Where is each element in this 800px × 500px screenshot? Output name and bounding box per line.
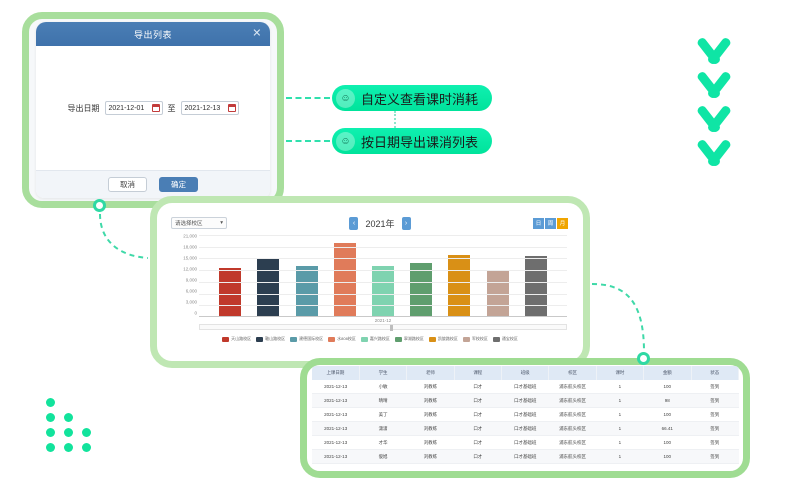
- table-cell: 浦东航头校区: [549, 436, 596, 450]
- gridline: [199, 270, 567, 271]
- table-cell: 刘教练: [407, 408, 454, 422]
- legend-label: 嘉兴路校区: [370, 336, 390, 342]
- lesson-table-container: 上课日期学生老师课程班级校区课时金额状态 2021-12-13小敏刘教练口才口才…: [312, 366, 739, 468]
- legend-label: 军校校区: [472, 336, 488, 342]
- table-cell: 刘教练: [407, 394, 454, 408]
- y-tick: 3,000: [186, 300, 197, 305]
- table-header-cell: 金额: [644, 366, 691, 380]
- table-cell: 口才基础班: [502, 408, 549, 422]
- legend-swatch: [361, 337, 368, 342]
- legend-label: 鞍山路校区: [265, 336, 285, 342]
- legend-item[interactable]: 军校校区: [463, 336, 488, 342]
- date-from-input[interactable]: 2021-12-01: [105, 101, 163, 115]
- connector-node-dialog: [93, 199, 106, 212]
- chevron-down-icon: ▾: [220, 220, 223, 226]
- legend-swatch: [222, 337, 229, 342]
- table-cell: 98: [644, 394, 691, 408]
- y-tick: 21,000: [183, 234, 197, 239]
- gridline: [199, 294, 567, 295]
- date-range-row: 导出日期 2021-12-01 至 2021-12-13: [68, 101, 239, 115]
- dialog-footer: 取消 确定: [36, 170, 270, 198]
- gridline: [199, 305, 567, 306]
- calendar-icon[interactable]: [228, 104, 236, 112]
- table-cell: 刘教练: [407, 436, 454, 450]
- table-cell: 美丁: [359, 408, 406, 422]
- campus-select[interactable]: 请选择校区 ▾: [171, 217, 227, 229]
- legend-swatch: [463, 337, 470, 342]
- table-cell: 1: [596, 436, 643, 450]
- table-cell: 俊旭: [359, 450, 406, 464]
- bar-chart: 21,00018,00015,00012,0009,0006,0003,0000…: [171, 235, 569, 330]
- table-cell: 口才基础班: [502, 380, 549, 394]
- x-axis-label: 2021-12: [199, 318, 567, 323]
- chart-bar[interactable]: [372, 266, 394, 316]
- table-row[interactable]: 2021-12-13潇潇刘教练口才口才基础班浦东航头校区166.41签到: [312, 422, 739, 436]
- table-cell: 100: [644, 408, 691, 422]
- callout-pill-1-label: 自定义查看课时消耗: [361, 89, 478, 108]
- table-cell: 2021-12-13: [312, 408, 359, 422]
- callout-pill-1: ☺ 自定义查看课时消耗: [332, 85, 492, 111]
- table-row[interactable]: 2021-12-13晴晴刘教练口才口才基础班浦东航头校区198签到: [312, 394, 739, 408]
- chart-gridlines: [199, 235, 567, 317]
- table-cell: 口才基础班: [502, 436, 549, 450]
- legend-label: 通宝校区: [502, 336, 518, 342]
- table-cell: 口才基础班: [502, 450, 549, 464]
- table-cell: 口才基础班: [502, 394, 549, 408]
- dialog-titlebar: 导出列表 ✕: [36, 22, 270, 46]
- legend-swatch: [290, 337, 297, 342]
- prev-year-button[interactable]: ‹: [349, 217, 358, 230]
- table-cell: 100: [644, 436, 691, 450]
- legend-item[interactable]: 通宝校区: [493, 336, 518, 342]
- legend-swatch: [429, 337, 436, 342]
- table-cell: 签到: [691, 394, 739, 408]
- chart-toolbar: 请选择校区 ▾ ‹ 2021年 › 日 周 月: [171, 216, 569, 230]
- table-cell: 1: [596, 422, 643, 436]
- table-cell: 晴晴: [359, 394, 406, 408]
- calendar-icon[interactable]: [152, 104, 160, 112]
- legend-item[interactable]: 建德国际校区: [290, 336, 323, 342]
- table-cell: 2021-12-13: [312, 380, 359, 394]
- table-cell: 2021-12-13: [312, 422, 359, 436]
- dot-grid-decoration: [46, 398, 91, 458]
- y-tick: 6,000: [186, 289, 197, 294]
- dialog-title: 导出列表: [134, 28, 172, 41]
- table-row[interactable]: 2021-12-13俊旭刘教练口才口才基础班浦东航头校区1100签到: [312, 450, 739, 464]
- connector-node-table: [637, 352, 650, 365]
- legend-swatch: [328, 337, 335, 342]
- y-tick: 0: [194, 311, 197, 316]
- year-label: 2021年: [365, 217, 394, 230]
- table-cell: 刘教练: [407, 380, 454, 394]
- next-year-button[interactable]: ›: [402, 217, 411, 230]
- chart-panel: 请选择校区 ▾ ‹ 2021年 › 日 周 月 21,00018,00015,0…: [163, 210, 577, 355]
- table-cell: 1: [596, 450, 643, 464]
- table-header-cell: 状态: [691, 366, 739, 380]
- table-header-cell: 老师: [407, 366, 454, 380]
- table-body: 2021-12-13小敏刘教练口才口才基础班浦东航头校区1100签到2021-1…: [312, 380, 739, 464]
- date-to-input[interactable]: 2021-12-13: [181, 101, 239, 115]
- table-cell: 签到: [691, 422, 739, 436]
- legend-swatch: [395, 337, 402, 342]
- table-header-cell: 课时: [596, 366, 643, 380]
- table-cell: 口才: [454, 450, 501, 464]
- legend-item[interactable]: 水808校区: [328, 336, 356, 342]
- table-cell: 口才: [454, 436, 501, 450]
- table-header-cell: 上课日期: [312, 366, 359, 380]
- table-cell: 2021-12-13: [312, 450, 359, 464]
- table-cell: 100: [644, 380, 691, 394]
- campus-select-value: 请选择校区: [175, 219, 203, 227]
- dialog-body: 导出日期 2021-12-01 至 2021-12-13: [36, 46, 270, 170]
- chevron-down-icon: [686, 40, 742, 70]
- chevron-down-icon: [686, 74, 742, 104]
- table-cell: 刘教练: [407, 450, 454, 464]
- chevron-down-icon: [686, 142, 742, 172]
- table-header-cell: 校区: [549, 366, 596, 380]
- confirm-button[interactable]: 确定: [159, 177, 198, 193]
- legend-item[interactable]: 凯旋路校区: [429, 336, 458, 342]
- table-cell: 1: [596, 380, 643, 394]
- legend-label: 凯旋路校区: [438, 336, 458, 342]
- table-header-cell: 课程: [454, 366, 501, 380]
- range-toggle-day[interactable]: 日: [533, 218, 545, 229]
- table-cell: 签到: [691, 380, 739, 394]
- table-cell: 口才: [454, 422, 501, 436]
- table-cell: 签到: [691, 450, 739, 464]
- table-cell: 才华: [359, 436, 406, 450]
- table-cell: 潇潇: [359, 422, 406, 436]
- table-cell: 浦东航头校区: [549, 408, 596, 422]
- table-cell: 签到: [691, 408, 739, 422]
- user-check-icon: ☺: [336, 132, 355, 151]
- legend-item[interactable]: 鞍山路校区: [256, 336, 285, 342]
- table-row[interactable]: 2021-12-13小敏刘教练口才口才基础班浦东航头校区1100签到: [312, 380, 739, 394]
- table-cell: 100: [644, 450, 691, 464]
- table-cell: 刘教练: [407, 422, 454, 436]
- chart-bar[interactable]: [257, 259, 279, 316]
- chart-bar[interactable]: [448, 255, 470, 316]
- legend-item[interactable]: 天山路校区: [222, 336, 251, 342]
- table-cell: 签到: [691, 436, 739, 450]
- y-tick: 12,000: [183, 267, 197, 272]
- callout-pill-2-label: 按日期导出课消列表: [361, 132, 478, 151]
- chevron-down-icon: [686, 108, 742, 138]
- date-separator: 至: [168, 103, 176, 114]
- legend-label: 水808校区: [337, 336, 356, 342]
- legend-label: 建德国际校区: [299, 336, 323, 342]
- date-from-value: 2021-12-01: [109, 105, 145, 112]
- callout-vertical-link: [394, 111, 396, 128]
- year-navigator: ‹ 2021年 ›: [349, 217, 410, 230]
- chart-scrollbar[interactable]: [199, 324, 567, 330]
- date-to-value: 2021-12-13: [185, 105, 221, 112]
- chart-legend: 天山路校区鞍山路校区建德国际校区水808校区嘉兴路校区翠湖路校区凯旋路校区军校校…: [171, 336, 569, 342]
- chevron-decoration: [686, 40, 742, 176]
- close-icon[interactable]: ✕: [252, 29, 262, 40]
- callout-pill-2: ☺ 按日期导出课消列表: [332, 128, 492, 154]
- y-axis: 21,00018,00015,00012,0009,0006,0003,0000: [171, 235, 197, 317]
- gridline: [199, 247, 567, 248]
- table-cell: 浦东航头校区: [549, 380, 596, 394]
- table-cell: 66.41: [644, 422, 691, 436]
- range-toggle-month[interactable]: 月: [557, 218, 569, 229]
- gridline: [199, 258, 567, 259]
- legend-swatch: [493, 337, 500, 342]
- y-tick: 18,000: [183, 245, 197, 250]
- table-cell: 小敏: [359, 380, 406, 394]
- table-cell: 浦东航头校区: [549, 394, 596, 408]
- date-range-label: 导出日期: [68, 103, 100, 114]
- chart-bar[interactable]: [525, 256, 547, 316]
- table-header-cell: 班级: [502, 366, 549, 380]
- y-tick: 9,000: [186, 278, 197, 283]
- table-cell: 口才: [454, 394, 501, 408]
- table-cell: 口才: [454, 408, 501, 422]
- user-check-icon: ☺: [336, 89, 355, 108]
- table-cell: 口才基础班: [502, 422, 549, 436]
- table-cell: 2021-12-13: [312, 394, 359, 408]
- table-row[interactable]: 2021-12-13美丁刘教练口才口才基础班浦东航头校区1100签到: [312, 408, 739, 422]
- table-cell: 1: [596, 394, 643, 408]
- table-cell: 1: [596, 408, 643, 422]
- gridline: [199, 282, 567, 283]
- legend-label: 天山路校区: [231, 336, 251, 342]
- table-header-row: 上课日期学生老师课程班级校区课时金额状态: [312, 366, 739, 380]
- table-header-cell: 学生: [359, 366, 406, 380]
- gridline: [199, 235, 567, 236]
- legend-item[interactable]: 翠湖路校区: [395, 336, 424, 342]
- callout-connector-1: [286, 97, 330, 99]
- lesson-table: 上课日期学生老师课程班级校区课时金额状态 2021-12-13小敏刘教练口才口才…: [312, 366, 739, 464]
- table-cell: 2021-12-13: [312, 436, 359, 450]
- chart-bar[interactable]: [219, 268, 241, 316]
- chart-bar[interactable]: [296, 266, 318, 316]
- cancel-button[interactable]: 取消: [108, 177, 147, 193]
- callout-connector-2: [286, 140, 330, 142]
- chart-scroll-thumb[interactable]: [390, 325, 393, 331]
- range-toggle-week[interactable]: 周: [545, 218, 557, 229]
- table-cell: 浦东航头校区: [549, 422, 596, 436]
- table-row[interactable]: 2021-12-13才华刘教练口才口才基础班浦东航头校区1100签到: [312, 436, 739, 450]
- table-cell: 浦东航头校区: [549, 450, 596, 464]
- export-dialog: 导出列表 ✕ 导出日期 2021-12-01 至 2021-12-13 取消 确…: [36, 22, 270, 198]
- legend-item[interactable]: 嘉兴路校区: [361, 336, 390, 342]
- table-cell: 口才: [454, 380, 501, 394]
- y-tick: 15,000: [183, 256, 197, 261]
- legend-label: 翠湖路校区: [404, 336, 424, 342]
- range-toggle-group: 日 周 月: [533, 218, 569, 229]
- legend-swatch: [256, 337, 263, 342]
